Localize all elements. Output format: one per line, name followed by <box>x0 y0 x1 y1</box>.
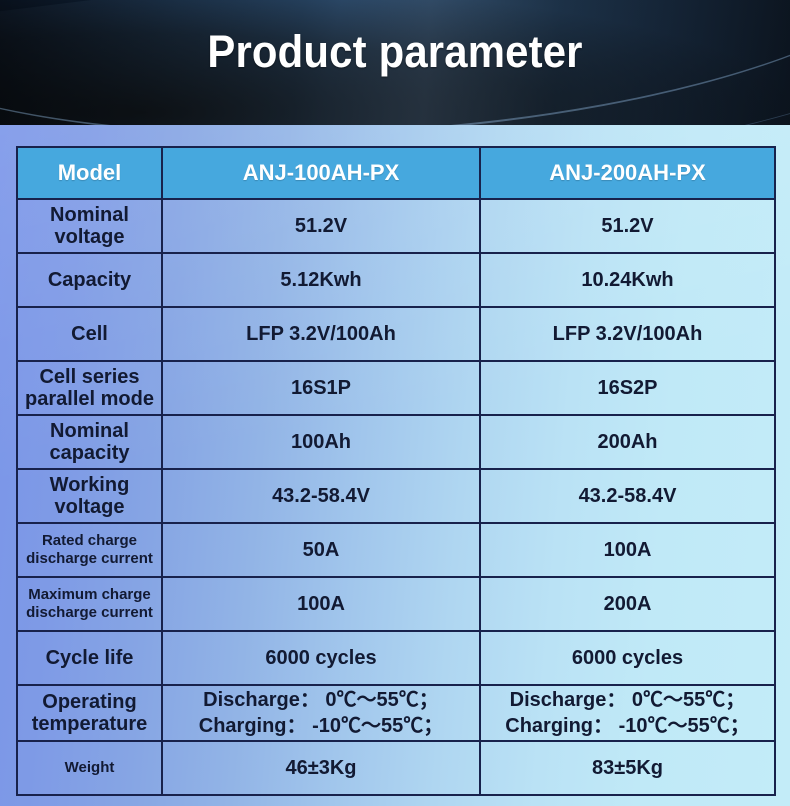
cell-operating-temperature-model-2: Discharge： 0℃～55℃； Charging： -10℃～55℃； <box>480 685 775 741</box>
cell-maximum-current-model-1: 100A <box>162 577 480 631</box>
table-header-row: Model ANJ-100AH-PX ANJ-200AH-PX <box>17 147 775 199</box>
cell-nominal-voltage-model-1: 51.2V <box>162 199 480 253</box>
cell-series-parallel-model-2: 16S2P <box>480 361 775 415</box>
cell-cell-model-1: LFP 3.2V/100Ah <box>162 307 480 361</box>
table-row: Maximum charge discharge current 100A 20… <box>17 577 775 631</box>
cell-maximum-current-model-2: 200A <box>480 577 775 631</box>
cell-nominal-capacity-model-1: 100Ah <box>162 415 480 469</box>
label-line-1: Working <box>50 474 130 496</box>
table-row: Working voltage 43.2-58.4V 43.2-58.4V <box>17 469 775 523</box>
row-label-capacity: Capacity <box>17 253 162 307</box>
label-line-2: capacity <box>49 442 129 464</box>
page-banner: Product parameter <box>0 0 790 125</box>
label-line-2: parallel mode <box>25 388 154 410</box>
header-cell-model: Model <box>17 147 162 199</box>
table-row: Capacity 5.12Kwh 10.24Kwh <box>17 253 775 307</box>
label-line-2: voltage <box>54 496 124 518</box>
label-line-1: Operating <box>42 691 136 713</box>
table-row: Nominal voltage 51.2V 51.2V <box>17 199 775 253</box>
row-label-maximum-charge-discharge-current: Maximum charge discharge current <box>17 577 162 631</box>
row-label-cell-series-parallel-mode: Cell series parallel mode <box>17 361 162 415</box>
label-line-1: Maximum charge <box>28 586 151 603</box>
temp-discharge-line: Discharge： 0℃～55℃； <box>485 687 770 713</box>
label-line-2: voltage <box>54 226 124 248</box>
row-label-rated-charge-discharge-current: Rated charge discharge current <box>17 523 162 577</box>
row-label-cell: Cell <box>17 307 162 361</box>
temp-charging-line: Charging： -10℃～55℃； <box>485 713 770 739</box>
row-label-nominal-capacity: Nominal capacity <box>17 415 162 469</box>
table-row: Rated charge discharge current 50A 100A <box>17 523 775 577</box>
label-line-2: discharge current <box>26 550 153 567</box>
product-parameter-page: Product parameter Model ANJ-100AH-PX ANJ… <box>0 0 790 806</box>
row-label-weight: Weight <box>17 741 162 795</box>
cell-operating-temperature-model-1: Discharge： 0℃～55℃； Charging： -10℃～55℃； <box>162 685 480 741</box>
cell-cell-model-2: LFP 3.2V/100Ah <box>480 307 775 361</box>
label-line-2: discharge current <box>26 604 153 621</box>
cell-rated-current-model-1: 50A <box>162 523 480 577</box>
label-line-1: Nominal <box>50 420 129 442</box>
table-row: Weight 46±3Kg 83±5Kg <box>17 741 775 795</box>
content-panel: Model ANJ-100AH-PX ANJ-200AH-PX Nominal … <box>0 125 790 806</box>
cell-nominal-voltage-model-2: 51.2V <box>480 199 775 253</box>
row-label-cycle-life: Cycle life <box>17 631 162 685</box>
cell-cycle-life-model-2: 6000 cycles <box>480 631 775 685</box>
specification-table: Model ANJ-100AH-PX ANJ-200AH-PX Nominal … <box>16 146 776 796</box>
page-title: Product parameter <box>28 28 763 75</box>
temp-charging-line: Charging： -10℃～55℃； <box>167 713 475 739</box>
cell-capacity-model-1: 5.12Kwh <box>162 253 480 307</box>
temp-discharge-line: Discharge： 0℃～55℃； <box>167 687 475 713</box>
row-label-operating-temperature: Operating temperature <box>17 685 162 741</box>
cell-cycle-life-model-1: 6000 cycles <box>162 631 480 685</box>
label-line-1: Rated charge <box>42 532 137 549</box>
cell-rated-current-model-2: 100A <box>480 523 775 577</box>
cell-nominal-capacity-model-2: 200Ah <box>480 415 775 469</box>
cell-working-voltage-model-2: 43.2-58.4V <box>480 469 775 523</box>
header-cell-model-1: ANJ-100AH-PX <box>162 147 480 199</box>
header-cell-model-2: ANJ-200AH-PX <box>480 147 775 199</box>
table-row: Nominal capacity 100Ah 200Ah <box>17 415 775 469</box>
cell-working-voltage-model-1: 43.2-58.4V <box>162 469 480 523</box>
table-row: Operating temperature Discharge： 0℃～55℃；… <box>17 685 775 741</box>
cell-series-parallel-model-1: 16S1P <box>162 361 480 415</box>
row-label-working-voltage: Working voltage <box>17 469 162 523</box>
cell-capacity-model-2: 10.24Kwh <box>480 253 775 307</box>
label-line-2: temperature <box>32 713 148 735</box>
cell-weight-model-1: 46±3Kg <box>162 741 480 795</box>
table-row: Cycle life 6000 cycles 6000 cycles <box>17 631 775 685</box>
table-row: Cell series parallel mode 16S1P 16S2P <box>17 361 775 415</box>
row-label-nominal-voltage: Nominal voltage <box>17 199 162 253</box>
label-line-1: Cell series <box>39 366 139 388</box>
table-row: Cell LFP 3.2V/100Ah LFP 3.2V/100Ah <box>17 307 775 361</box>
cell-weight-model-2: 83±5Kg <box>480 741 775 795</box>
label-line-1: Nominal <box>50 204 129 226</box>
